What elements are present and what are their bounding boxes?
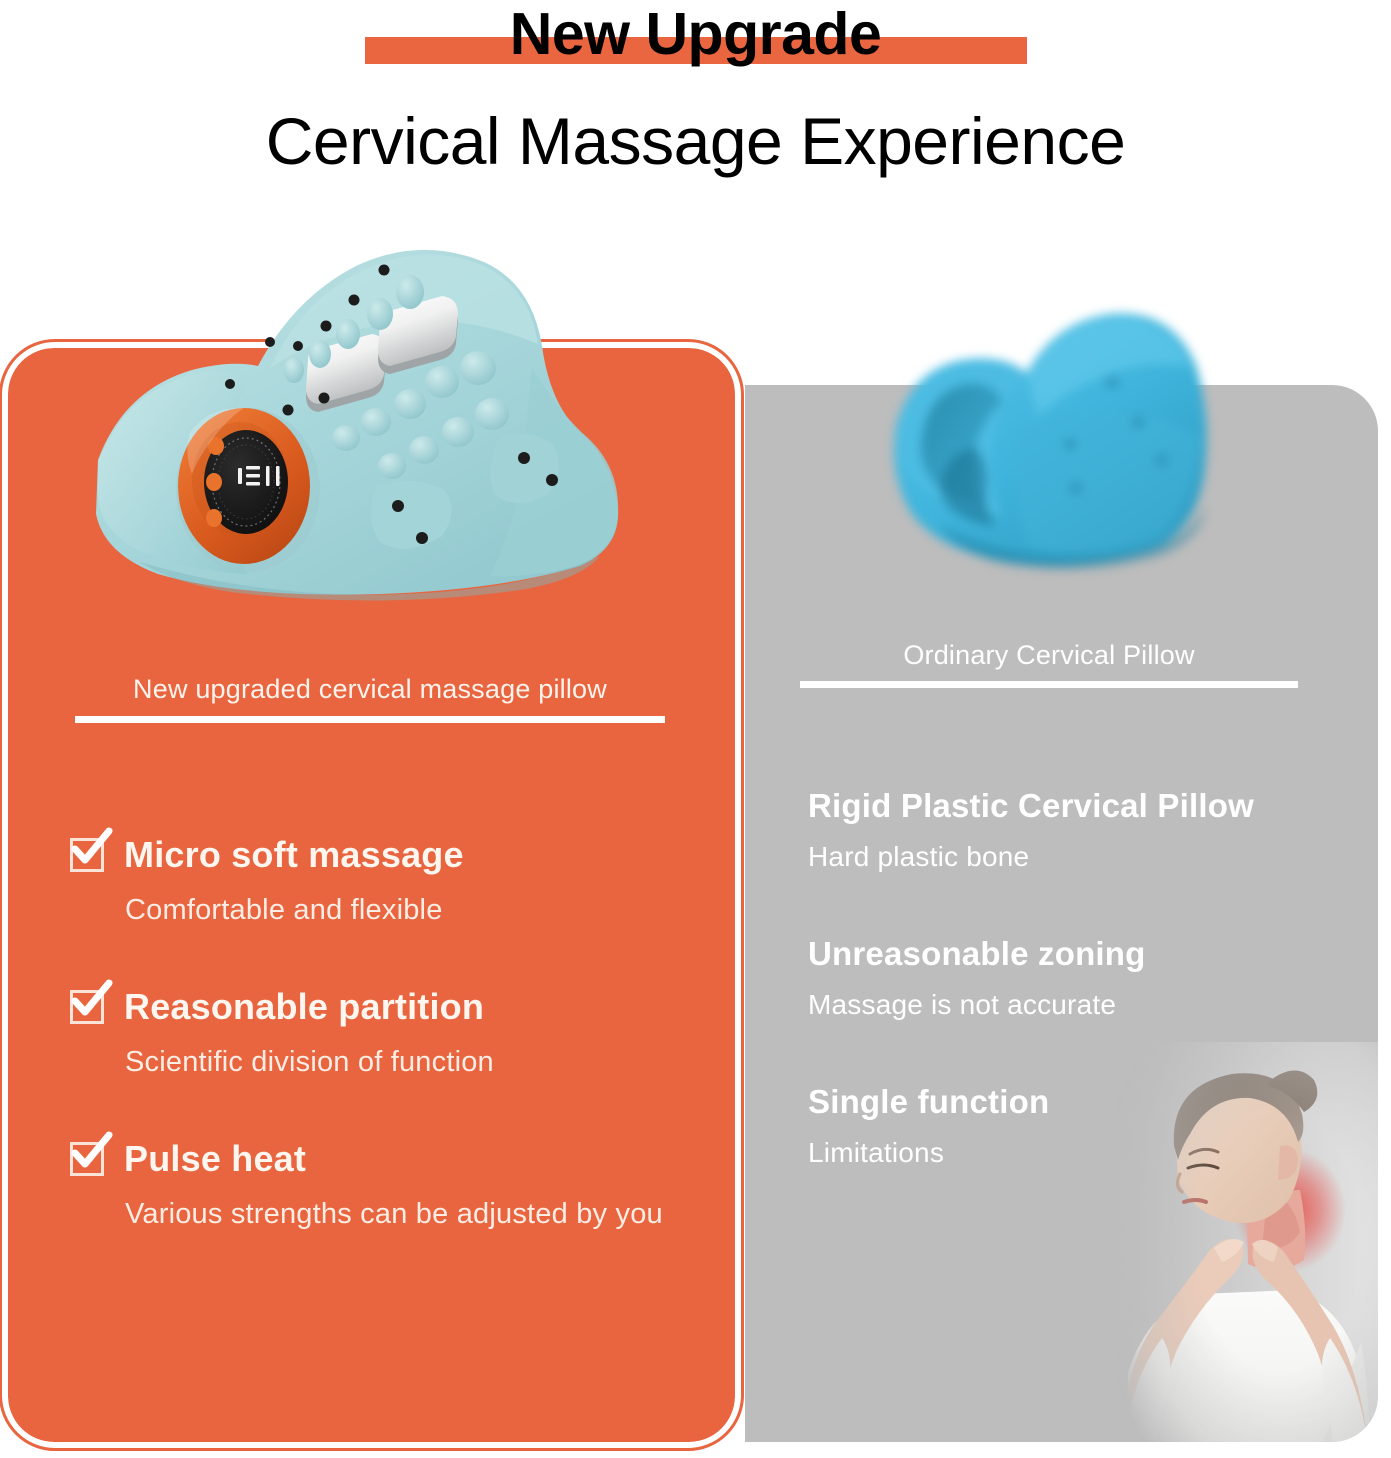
- right-feature-list: Rigid Plastic Cervical Pillow Hard plast…: [808, 786, 1328, 1230]
- right-feature-item-1: Rigid Plastic Cervical Pillow Hard plast…: [808, 786, 1328, 874]
- left-feature-title: Reasonable partition: [124, 986, 484, 1028]
- left-feature-item-2: Reasonable partition Scientific division…: [70, 986, 730, 1080]
- left-feature-title: Pulse heat: [124, 1138, 306, 1180]
- right-panel-caption: Ordinary Cervical Pillow: [800, 638, 1298, 688]
- right-feature-title: Rigid Plastic Cervical Pillow: [808, 786, 1328, 826]
- right-caption-text: Ordinary Cervical Pillow: [800, 638, 1298, 672]
- right-feature-item-3: Single function Limitations: [808, 1082, 1328, 1170]
- left-feature-subtitle: Comfortable and flexible: [125, 892, 730, 928]
- page-title: Cervical Massage Experience: [0, 100, 1391, 182]
- right-feature-subtitle: Limitations: [808, 1136, 1328, 1170]
- left-feature-title: Micro soft massage: [124, 834, 464, 876]
- ordinary-cervical-pillow-image: [860, 300, 1250, 600]
- left-feature-item-1: Micro soft massage Comfortable and flexi…: [70, 834, 730, 928]
- left-caption-text: New upgraded cervical massage pillow: [75, 672, 665, 706]
- control-panel-knob: [176, 408, 320, 572]
- right-caption-underline: [800, 681, 1298, 688]
- checkbox-checked-icon: [70, 1142, 104, 1176]
- checkbox-checked-icon: [70, 990, 104, 1024]
- left-feature-list: Micro soft massage Comfortable and flexi…: [70, 834, 730, 1290]
- right-feature-title: Single function: [808, 1082, 1328, 1122]
- right-feature-item-2: Unreasonable zoning Massage is not accur…: [808, 934, 1328, 1022]
- upgraded-massage-pillow-image: [80, 218, 640, 618]
- left-feature-item-3: Pulse heat Various strengths can be adju…: [70, 1138, 730, 1232]
- right-feature-subtitle: Hard plastic bone: [808, 840, 1328, 874]
- page-header: New Upgrade Cervical Massage Experience: [0, 0, 1391, 210]
- badge-label: New Upgrade: [0, 0, 1391, 68]
- left-caption-underline: [75, 716, 665, 723]
- left-panel-caption: New upgraded cervical massage pillow: [75, 672, 665, 723]
- right-feature-title: Unreasonable zoning: [808, 934, 1328, 974]
- left-feature-subtitle: Various strengths can be adjusted by you: [125, 1196, 730, 1232]
- right-feature-subtitle: Massage is not accurate: [808, 988, 1328, 1022]
- new-upgrade-badge: New Upgrade: [0, 0, 1391, 80]
- checkbox-checked-icon: [70, 838, 104, 872]
- left-feature-subtitle: Scientific division of function: [125, 1044, 730, 1080]
